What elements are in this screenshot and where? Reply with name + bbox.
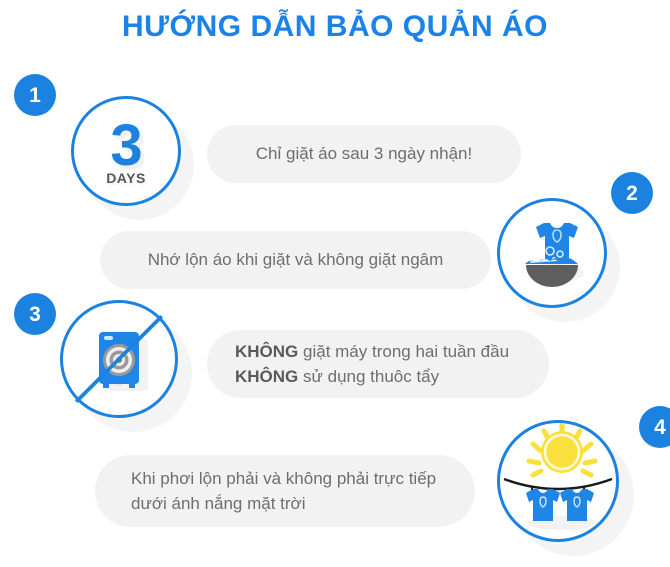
step-badge-4[interactable]: 4: [639, 406, 670, 448]
step-text-bubble-1: Chỉ giặt áo sau 3 ngày nhận!: [207, 125, 521, 183]
step-badge-1[interactable]: 1: [14, 74, 56, 116]
step-3-line2-rest: sử dụng thuôc tẩy: [298, 367, 439, 386]
icon-circle-step-4: [497, 420, 619, 542]
step-text-bubble-3: KHÔNG giặt máy trong hai tuần đầu KHÔNG …: [207, 330, 549, 398]
step-3-line1-rest: giặt máy trong hai tuần đầu: [298, 342, 509, 361]
days-label: DAYS: [106, 171, 146, 185]
icon-circle-step-1: 3 DAYS: [71, 96, 181, 206]
step-badge-3[interactable]: 3: [14, 293, 56, 335]
laundry-care-infographic: HƯỚNG DẪN BẢO QUẢN ÁO 3 DAYS 1 Chỉ giặt …: [0, 0, 670, 567]
washing-machine-icon: [82, 318, 156, 400]
step-3-line2-bold: KHÔNG: [235, 367, 298, 386]
step-4-line1: Khi phơi lộn phải và không phải trực tiế…: [131, 466, 436, 492]
step-text-1: Chỉ giặt áo sau 3 ngày nhận!: [256, 141, 472, 167]
icon-circle-step-2: [497, 198, 607, 308]
step-3-line1-bold: KHÔNG: [235, 342, 298, 361]
three-days-icon: 3 DAYS: [106, 117, 146, 185]
shirt-in-basin-icon: [510, 211, 594, 295]
step-text-bubble-2: Nhớ lộn áo khi giặt và không giặt ngâm: [100, 231, 491, 289]
step-badge-2[interactable]: 2: [611, 172, 653, 214]
step-text-bubble-4: Khi phơi lộn phải và không phải trực tiế…: [95, 455, 475, 527]
icon-circle-step-3: [60, 300, 178, 418]
days-number: 3: [106, 117, 146, 175]
step-4-line2: dưới ánh nắng mặt trời: [131, 491, 436, 517]
page-title: HƯỚNG DẪN BẢO QUẢN ÁO: [0, 10, 670, 44]
step-text-2: Nhớ lộn áo khi giặt và không giặt ngâm: [148, 247, 444, 273]
clothesline-sun-icon: [500, 423, 616, 539]
